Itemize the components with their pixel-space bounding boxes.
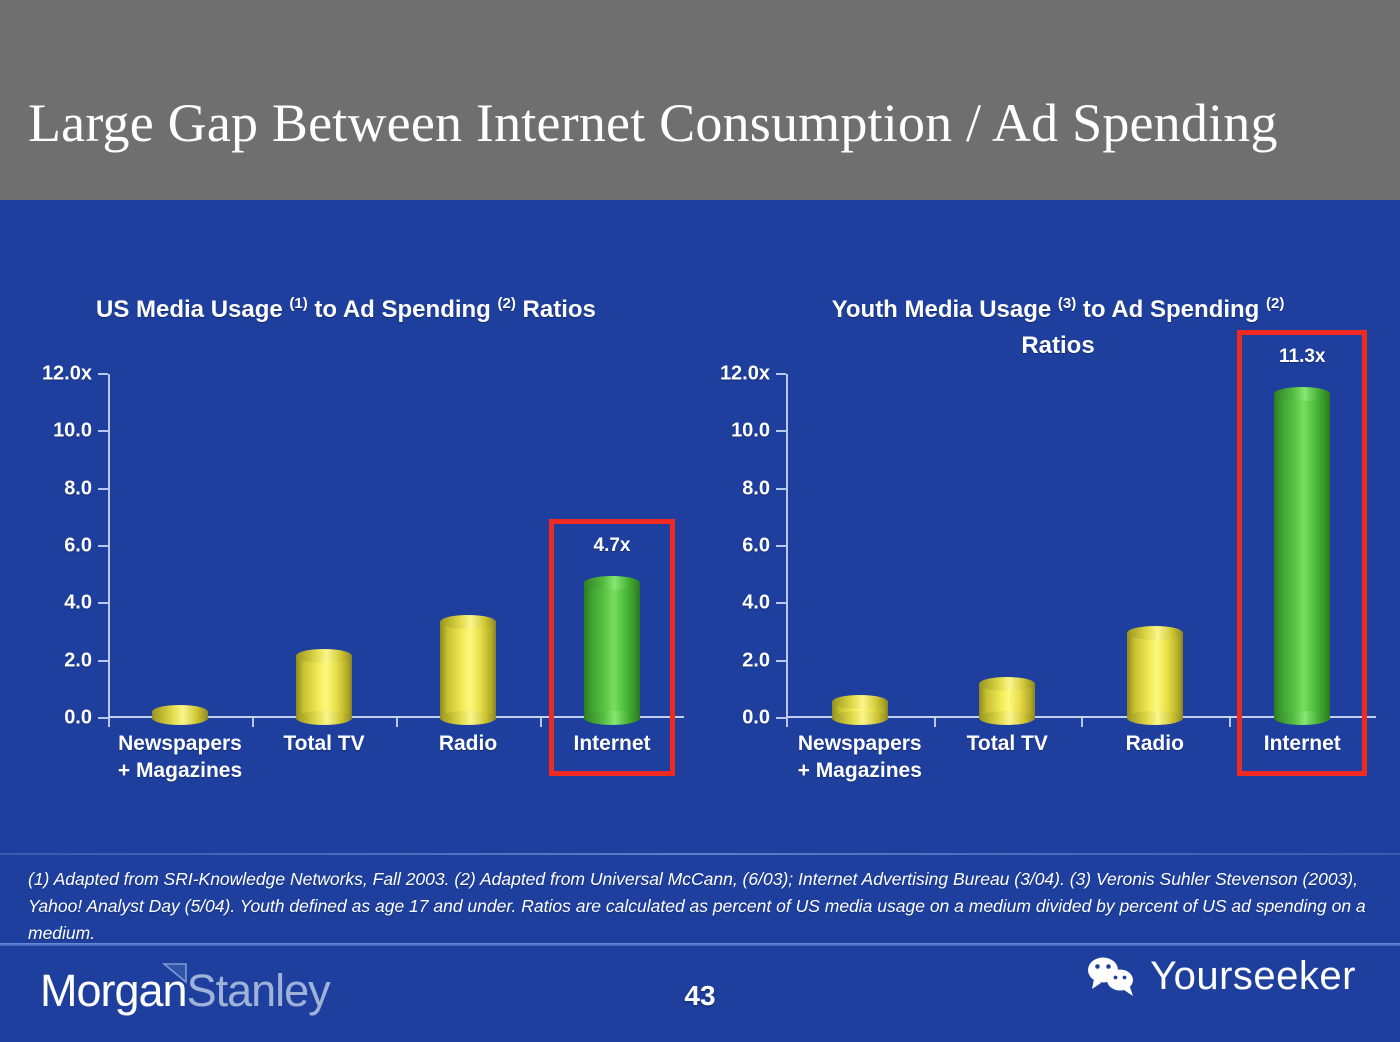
plot-area-youth-media-usage: 0.02.04.06.08.010.012.0xNewspapers+ Maga… [786, 374, 1376, 718]
bar-newspapers-magazines [152, 712, 208, 718]
y-axis-tick [98, 373, 108, 375]
y-axis-line [786, 374, 788, 718]
chart-title-main: US Media Usage [96, 296, 283, 323]
y-axis-tick [98, 488, 108, 490]
bar-value-label: 4.7x [594, 535, 631, 557]
y-axis-tick-label: 0.0 [742, 707, 770, 730]
plot-area-us-media-usage: 0.02.04.06.08.010.012.0xNewspapers+ Maga… [108, 374, 684, 718]
y-axis-tick-label: 10.0 [53, 420, 92, 443]
chart-title-end: Ratios [1021, 332, 1094, 359]
x-axis-category-line: Newspapers [798, 730, 922, 757]
x-axis-category-label: Radio [439, 730, 497, 757]
chart-title-end: Ratios [523, 296, 596, 323]
bar-top-ellipse [832, 695, 888, 709]
wechat-icon [1086, 954, 1138, 998]
y-axis-tick-label: 8.0 [742, 477, 770, 500]
x-axis-category-label: Internet [1264, 730, 1341, 757]
y-axis-tick [776, 545, 786, 547]
chart-title-footnote-ref-2: (2) [1266, 295, 1284, 312]
chart-title-mid: to Ad Spending [314, 296, 490, 323]
y-axis-tick-label: 4.0 [64, 592, 92, 615]
y-axis-tick [776, 373, 786, 375]
x-axis-tick [934, 718, 936, 727]
x-axis-category-label: Radio [1126, 730, 1184, 757]
x-axis-tick [1081, 718, 1083, 727]
bar-body [296, 656, 352, 718]
y-axis-tick-label: 12.0x [42, 363, 92, 386]
x-axis-category-label: Newspapers+ Magazines [798, 730, 922, 784]
bar-body [1274, 394, 1330, 718]
x-axis-category-label: Internet [573, 730, 650, 757]
bar-internet [1274, 394, 1330, 718]
bar-top-ellipse [296, 649, 352, 663]
bar-body [440, 622, 496, 718]
x-axis-tick [108, 718, 110, 727]
x-axis-tick [252, 718, 254, 727]
x-axis-category-label: Newspapers+ Magazines [118, 730, 242, 784]
x-axis-category-line: Total TV [967, 730, 1048, 757]
chart-panel-us-media-usage: US Media Usage (1) to Ad Spending (2) Ra… [28, 236, 708, 816]
bar-bottom-ellipse [832, 711, 888, 725]
bar-total-tv [979, 684, 1035, 718]
slide-canvas: Large Gap Between Internet Consumption /… [0, 0, 1400, 1042]
bar-body [1127, 633, 1183, 718]
y-axis-tick-label: 6.0 [742, 535, 770, 558]
y-axis-tick [776, 717, 786, 719]
chart-title-footnote-ref-1: (1) [289, 295, 307, 312]
bar-bottom-ellipse [440, 711, 496, 725]
bar-bottom-ellipse [1274, 711, 1330, 725]
y-axis-tick-label: 12.0x [720, 363, 770, 386]
bar-top-ellipse [584, 576, 640, 590]
y-axis-tick [776, 488, 786, 490]
x-axis-tick [786, 718, 788, 727]
y-axis-tick-label: 10.0 [731, 420, 770, 443]
brand-name: Yourseeker [1150, 954, 1356, 998]
x-axis-tick [1229, 718, 1231, 727]
x-axis-category-line: Internet [1264, 730, 1341, 757]
bar-top-ellipse [440, 615, 496, 629]
bar-top-ellipse [1127, 626, 1183, 640]
footnote-text: (1) Adapted from SRI-Knowledge Networks,… [28, 866, 1376, 947]
chart-title-us-media-usage: US Media Usage (1) to Ad Spending (2) Ra… [28, 286, 596, 328]
y-axis-tick [776, 602, 786, 604]
y-axis-tick [98, 660, 108, 662]
y-axis-tick-label: 8.0 [64, 477, 92, 500]
x-axis-category-line: Newspapers [118, 730, 242, 757]
chart-title-main: Youth Media Usage [832, 296, 1052, 323]
yourseeker-brand: Yourseeker [1086, 954, 1356, 998]
bar-internet [584, 583, 640, 718]
bar-value-label: 11.3x [1279, 346, 1326, 368]
bar-bottom-ellipse [296, 711, 352, 725]
y-axis-tick [98, 430, 108, 432]
y-axis-tick-label: 6.0 [64, 535, 92, 558]
y-axis-tick [98, 545, 108, 547]
x-axis-category-label: Total TV [283, 730, 364, 757]
page-title: Large Gap Between Internet Consumption /… [28, 92, 1278, 154]
y-axis-tick-label: 4.0 [742, 592, 770, 615]
x-axis-category-line: + Magazines [798, 757, 922, 784]
bar-top-ellipse [152, 705, 208, 719]
x-axis-category-line: Total TV [283, 730, 364, 757]
bar-bottom-ellipse [979, 711, 1035, 725]
x-axis-category-line: Radio [439, 730, 497, 757]
bar-body [584, 583, 640, 718]
y-axis-tick [776, 430, 786, 432]
bar-top-ellipse [1274, 387, 1330, 401]
y-axis-tick [98, 602, 108, 604]
y-axis-tick [776, 660, 786, 662]
chart-title-mid: to Ad Spending [1083, 296, 1259, 323]
bar-radio [440, 622, 496, 718]
bar-bottom-ellipse [1127, 711, 1183, 725]
bar-radio [1127, 633, 1183, 718]
x-axis-tick [396, 718, 398, 727]
x-axis-category-line: + Magazines [118, 757, 242, 784]
y-axis-line [108, 374, 110, 718]
bar-total-tv [296, 656, 352, 718]
x-axis-category-label: Total TV [967, 730, 1048, 757]
chart-panel-youth-media-usage: Youth Media Usage (3) to Ad Spending (2)… [718, 236, 1398, 816]
bar-bottom-ellipse [584, 711, 640, 725]
bar-top-ellipse [979, 677, 1035, 691]
y-axis-tick-label: 2.0 [742, 649, 770, 672]
slide-footer: MorganStanley 43 [0, 946, 1400, 1042]
y-axis-tick [98, 717, 108, 719]
footnote-divider [0, 853, 1400, 855]
x-axis-category-line: Internet [573, 730, 650, 757]
x-axis-category-line: Radio [1126, 730, 1184, 757]
bar-newspapers-magazines [832, 702, 888, 718]
chart-title-footnote-ref-3: (3) [1058, 295, 1076, 312]
x-axis-tick [540, 718, 542, 727]
chart-title-footnote-ref-2: (2) [498, 295, 516, 312]
y-axis-tick-label: 0.0 [64, 707, 92, 730]
y-axis-tick-label: 2.0 [64, 649, 92, 672]
